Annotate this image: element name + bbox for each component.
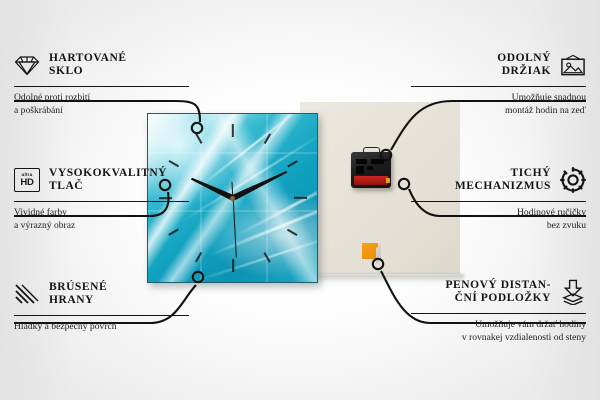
picture-frame-icon (560, 52, 586, 78)
feature-divider (14, 315, 189, 316)
dial-tick (231, 124, 233, 137)
feature-divider (411, 313, 586, 314)
diagonal-lines-icon (14, 281, 40, 307)
feature-description: Umožňuje snadnou montáž hodin na zeď (411, 92, 586, 117)
feature-description: Hodinové ručičky bez zvuku (411, 207, 586, 232)
movement-detail (371, 159, 384, 164)
feature-title: TICHÝ MECHANIZMUS (455, 167, 551, 194)
feature-header: PENOVÝ DISTAN- ČNÍ PODLOŽKY (411, 275, 586, 309)
movement-hanger (363, 147, 380, 155)
glass-reflection-line (148, 152, 317, 154)
infographic-canvas: HARTOVANÉ SKLO Odolné proti rozbití a po… (0, 0, 600, 400)
feature-description: Odolné proti rozbití a poškrábání (14, 92, 189, 117)
feature-durable-holder[interactable]: ODOLNÝ DRŽIAK Umožňuje snadnou montáž ho… (411, 48, 586, 117)
dial-tick (287, 229, 297, 236)
feature-description: Hladký a bezpečný povrch (14, 321, 189, 333)
movement-detail (356, 166, 364, 174)
feature-tempered-glass[interactable]: HARTOVANÉ SKLO Odolné proti rozbití a po… (14, 48, 189, 117)
feature-title: PENOVÝ DISTAN- ČNÍ PODLOŽKY (445, 279, 551, 306)
dial-tick (231, 259, 233, 272)
dial-tick (294, 197, 307, 199)
ultra-hd-badge-main: HD (20, 178, 33, 188)
feature-title: ODOLNÝ DRŽIAK (497, 52, 551, 79)
feature-divider (14, 86, 189, 87)
movement-detail (356, 159, 367, 164)
feature-header: ultra HD VYSOKOKVALITNÝ TLAČ (14, 163, 189, 197)
clock-center-pin (230, 196, 235, 201)
clock-second-hand (232, 198, 237, 258)
feature-silent-mechanism[interactable]: TICHÝ MECHANIZMUS Hodinové ručičky bez z… (411, 163, 586, 232)
feature-foam-spacers[interactable]: PENOVÝ DISTAN- ČNÍ PODLOŽKY Umožňuje vám… (411, 275, 586, 344)
clock-movement-box (351, 152, 391, 188)
feature-divider (411, 201, 586, 202)
diamond-icon (14, 52, 40, 78)
feature-header: TICHÝ MECHANIZMUS (411, 163, 586, 197)
feature-divider (411, 86, 586, 87)
feature-title: BRÚSENÉ HRANY (49, 281, 107, 308)
arrow-down-layers-icon (560, 279, 586, 305)
feature-title: VYSOKOKVALITNÝ TLAČ (49, 167, 167, 194)
feature-header: ODOLNÝ DRŽIAK (411, 48, 586, 82)
feature-description: Umožňuje vám držať hodiny v rovnakej vzd… (411, 319, 586, 344)
movement-detail (367, 166, 373, 170)
feature-ground-edges[interactable]: BRÚSENÉ HRANY Hladký a bezpečný povrch (14, 277, 189, 334)
feature-header: HARTOVANÉ SKLO (14, 48, 189, 82)
feature-divider (14, 201, 189, 202)
gear-icon (560, 167, 586, 193)
aa-battery (354, 176, 388, 185)
feature-description: Vividné farby a výrazný obraz (14, 207, 189, 232)
feature-header: BRÚSENÉ HRANY (14, 277, 189, 311)
feature-title: HARTOVANÉ SKLO (49, 52, 127, 79)
foam-spacer-pad (362, 243, 378, 259)
feature-high-quality-print[interactable]: ultra HD VYSOKOKVALITNÝ TLAČ Vividné far… (14, 163, 189, 232)
dial-tick (287, 160, 297, 167)
ultra-hd-icon: ultra HD (14, 167, 40, 193)
